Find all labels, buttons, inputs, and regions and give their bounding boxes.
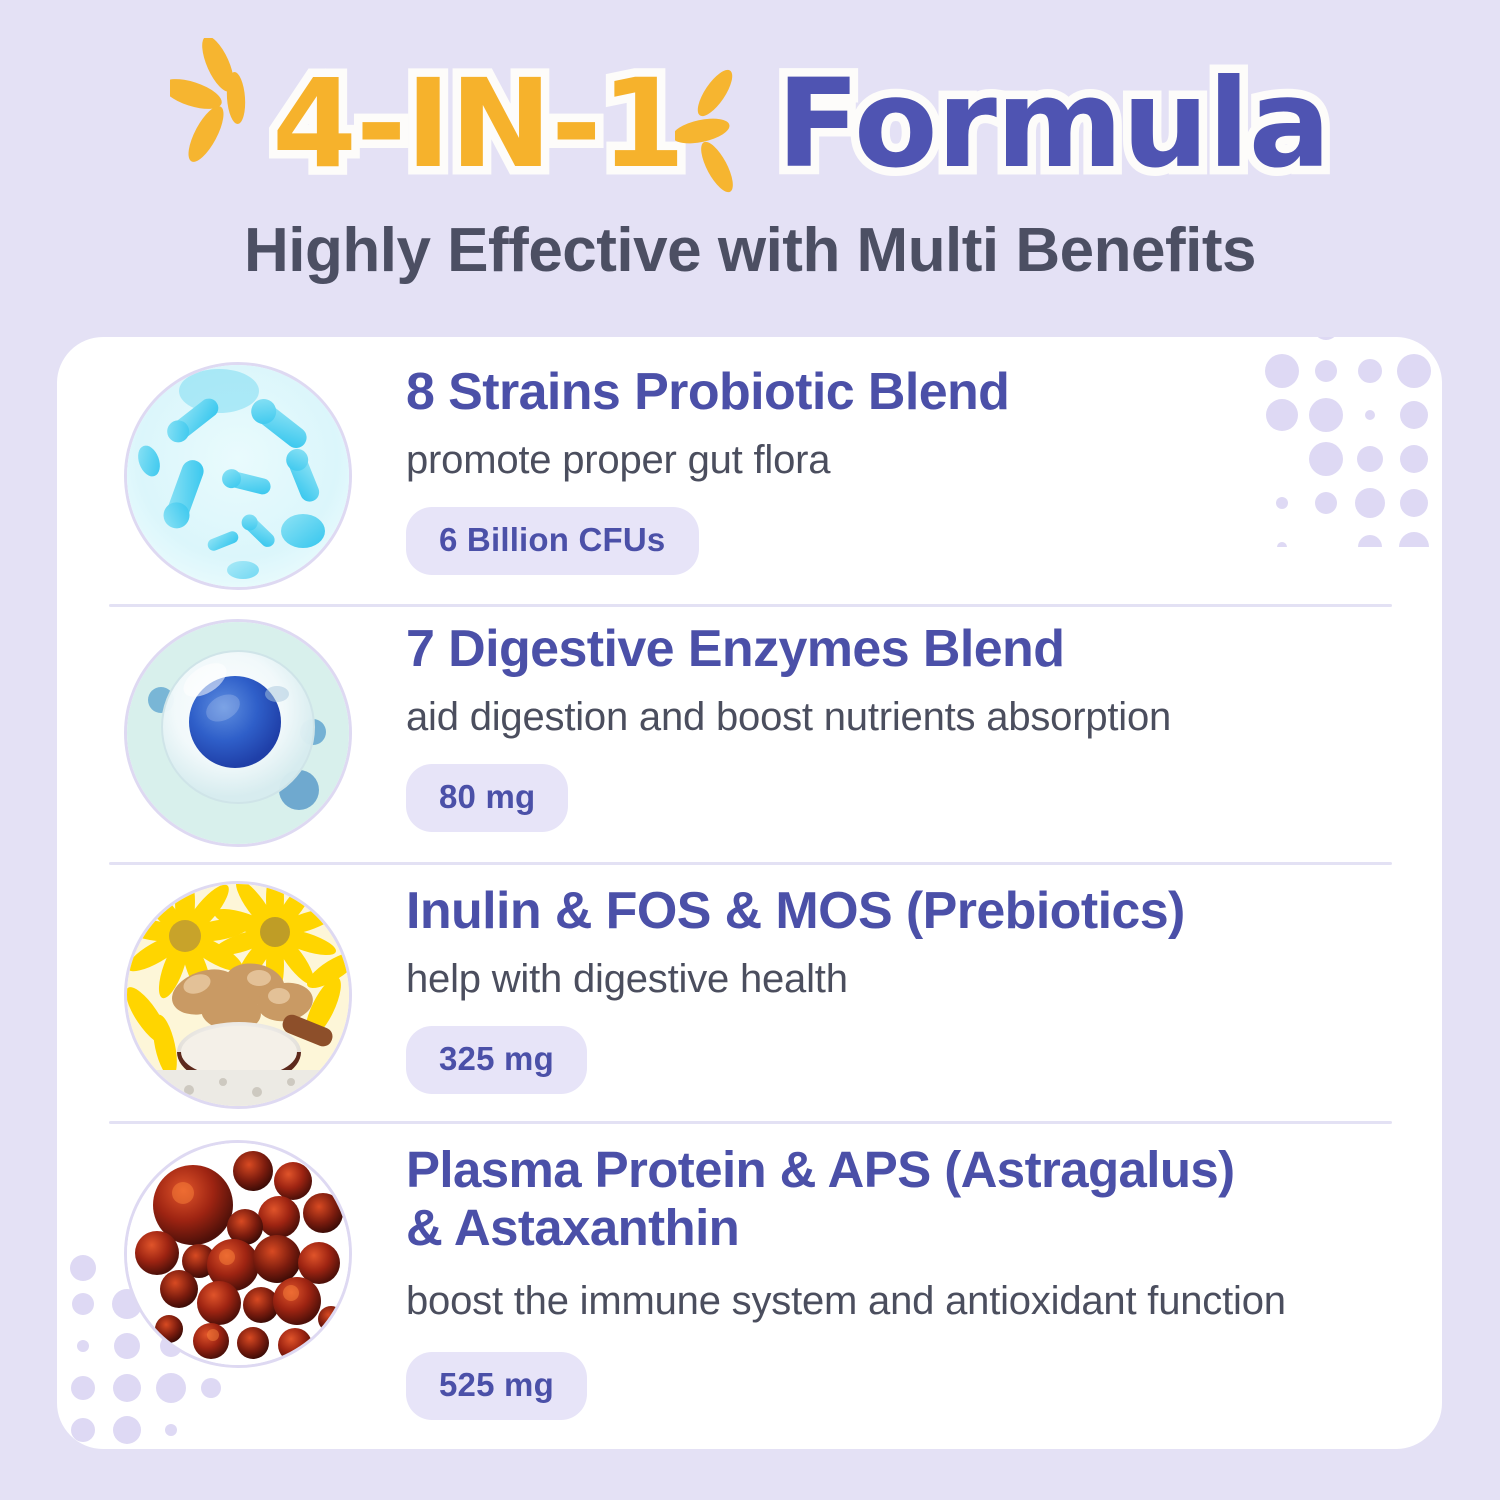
list-item[interactable]: 8 Strains Probiotic Blend promote proper… <box>109 337 1390 604</box>
starburst-icon <box>675 57 767 207</box>
list-item[interactable]: 7 Digestive Enzymes Blend aid digestion … <box>109 604 1390 862</box>
benefit-title: Inulin & FOS & MOS (Prebiotics) <box>406 882 1390 941</box>
enzyme-cell-icon <box>127 622 349 844</box>
title-blue: Formula <box>777 63 1331 185</box>
benefit-description: help with digestive health <box>406 954 1390 1004</box>
benefit-description: promote proper gut flora <box>406 435 1390 485</box>
status-badge: 80 mg <box>406 764 568 832</box>
benefit-title: 8 Strains Probiotic Blend <box>406 363 1390 422</box>
benefit-text: 8 Strains Probiotic Blend promote proper… <box>349 359 1390 575</box>
status-badge: 325 mg <box>406 1026 587 1094</box>
title-row: 4-IN-1 Formula <box>0 44 1500 204</box>
benefit-title: 7 Digestive Enzymes Blend <box>406 620 1390 679</box>
status-badge: 525 mg <box>406 1352 587 1420</box>
astaxanthin-algae-icon <box>127 1143 349 1365</box>
benefit-description: boost the immune system and antioxidant … <box>406 1276 1390 1326</box>
list-item[interactable]: Inulin & FOS & MOS (Prebiotics) help wit… <box>109 862 1390 1121</box>
benefit-text: 7 Digestive Enzymes Blend aid digestion … <box>349 616 1390 832</box>
page-subtitle: Highly Effective with Multi Benefits <box>0 215 1500 286</box>
benefits-card: 8 Strains Probiotic Blend promote proper… <box>57 337 1442 1449</box>
title-orange: 4-IN-1 <box>272 63 685 185</box>
benefit-title-line2: & Astaxanthin <box>406 1199 1390 1257</box>
benefits-list: 8 Strains Probiotic Blend promote proper… <box>57 337 1442 1449</box>
status-badge: 6 Billion CFUs <box>406 507 699 575</box>
benefit-title: Plasma Protein & APS (Astragalus) & Asta… <box>406 1141 1390 1256</box>
benefit-title-line1: Plasma Protein & APS (Astragalus) <box>406 1141 1235 1198</box>
benefit-description: aid digestion and boost nutrients absorp… <box>406 692 1390 742</box>
benefit-text: Inulin & FOS & MOS (Prebiotics) help wit… <box>349 878 1390 1094</box>
inulin-flower-powder-icon <box>127 884 349 1106</box>
probiotic-bacteria-icon <box>127 365 349 587</box>
header: 4-IN-1 Formula Highly Effective with Mul… <box>0 0 1500 330</box>
list-item[interactable]: Plasma Protein & APS (Astragalus) & Asta… <box>109 1121 1390 1439</box>
benefit-text: Plasma Protein & APS (Astragalus) & Asta… <box>349 1137 1390 1420</box>
starburst-icon <box>170 38 290 188</box>
